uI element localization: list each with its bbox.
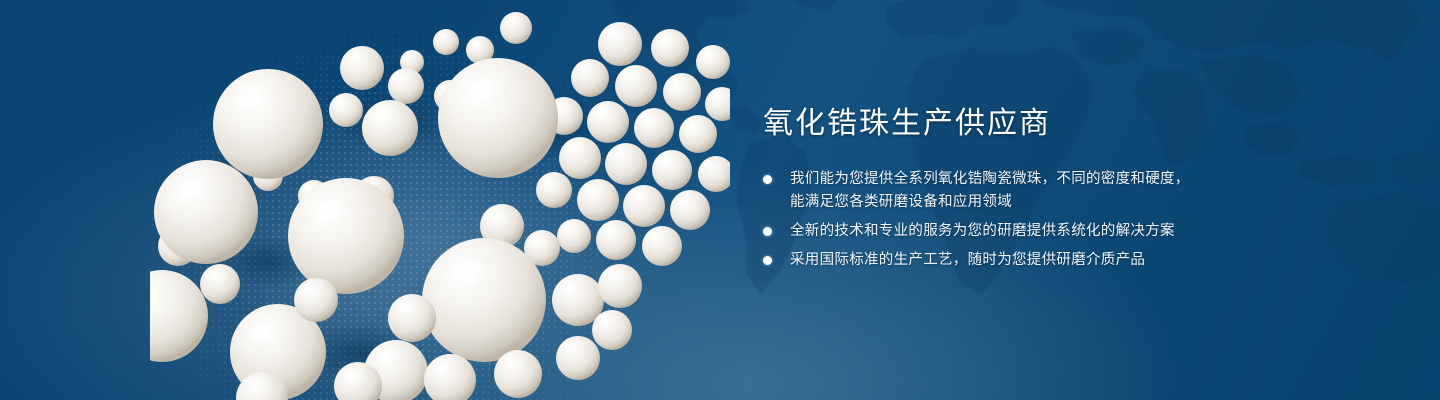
list-item: 我们能为您提供全系列氧化锆陶瓷微珠，不同的密度和硬度， 能满足您各类研磨设备和应… [763, 168, 1283, 214]
bullet-dot-icon [763, 256, 772, 265]
bullet-dot-icon [763, 227, 772, 236]
banner-copy: 氧化锆珠生产供应商 我们能为您提供全系列氧化锆陶瓷微珠，不同的密度和硬度， 能满… [763, 104, 1283, 272]
list-item: 全新的技术和专业的服务为您的研磨提供系统化的解决方案 [763, 220, 1283, 243]
list-item-line: 能满足您各类研磨设备和应用领域 [790, 191, 1283, 214]
list-item-line: 全新的技术和专业的服务为您的研磨提供系统化的解决方案 [790, 220, 1283, 243]
page-title: 氧化锆珠生产供应商 [763, 104, 1283, 144]
list-item-line: 采用国际标准的生产工艺，随时为您提供研磨介质产品 [790, 249, 1283, 272]
list-item: 采用国际标准的生产工艺，随时为您提供研磨介质产品 [763, 249, 1283, 272]
list-item-line: 我们能为您提供全系列氧化锆陶瓷微珠，不同的密度和硬度， [790, 168, 1283, 191]
bullet-dot-icon [763, 175, 772, 184]
feature-list: 我们能为您提供全系列氧化锆陶瓷微珠，不同的密度和硬度， 能满足您各类研磨设备和应… [763, 168, 1283, 272]
hero-banner: 氧化锆珠生产供应商 我们能为您提供全系列氧化锆陶瓷微珠，不同的密度和硬度， 能满… [0, 0, 1440, 400]
